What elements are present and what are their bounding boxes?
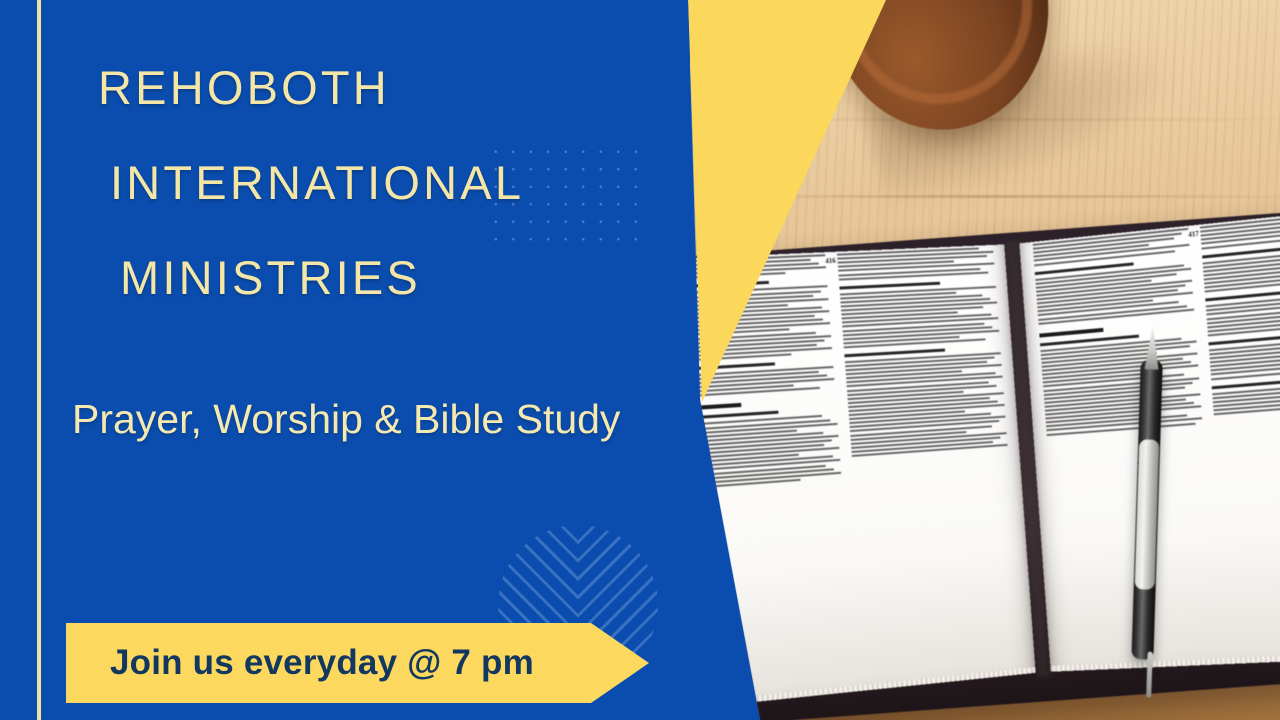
title-line-1: REHOBOTH <box>98 64 650 111</box>
title-line-2: INTERNATIONAL <box>110 159 650 206</box>
pen-tip <box>1145 325 1160 369</box>
open-bible: 416 <box>690 206 1280 720</box>
page-title: REHOBOTH INTERNATIONAL MINISTRIES <box>90 64 650 301</box>
subtitle: Prayer, Worship & Bible Study <box>72 396 620 443</box>
flyer-canvas: 416 <box>0 0 1280 720</box>
banner-text: Join us everyday @ 7 pm <box>110 643 534 683</box>
text-column <box>837 245 1012 459</box>
join-us-banner: Join us everyday @ 7 pm <box>66 623 649 703</box>
text-column <box>1033 225 1208 437</box>
pen-clip <box>1146 652 1152 698</box>
text-column <box>1200 207 1280 417</box>
title-line-3: MINISTRIES <box>120 254 650 301</box>
vertical-rule <box>37 0 41 720</box>
